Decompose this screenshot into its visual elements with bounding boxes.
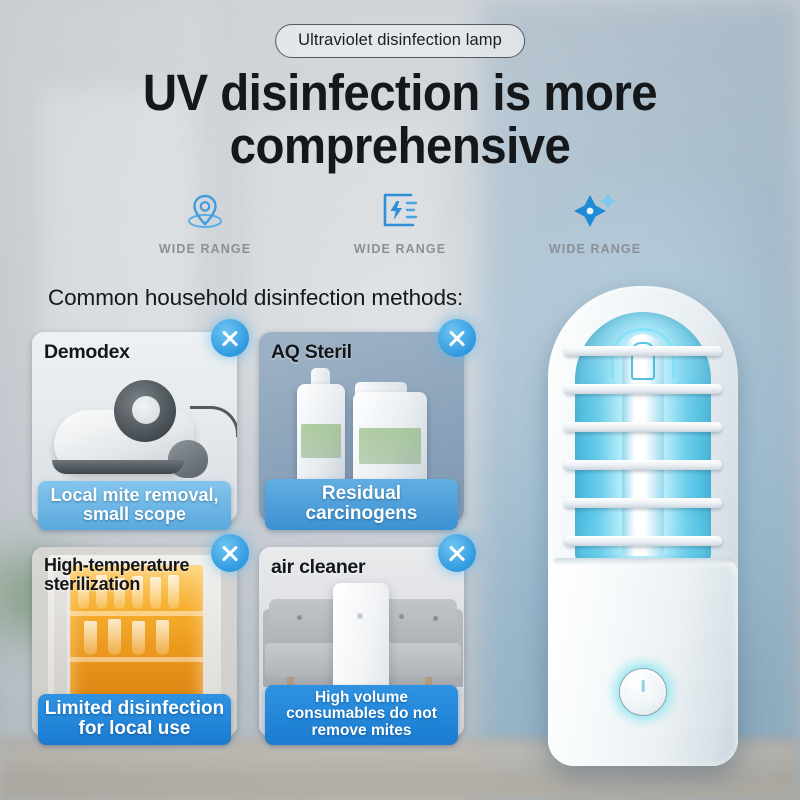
grille-bar (564, 460, 722, 470)
uv-lamp-product (548, 286, 738, 766)
card-title: High-temperature sterilization (44, 556, 237, 594)
product-infographic: Ultraviolet disinfection lamp UV disinfe… (0, 0, 800, 800)
feature-label: WIDE RANGE (549, 242, 641, 256)
section-title: Common household disinfection methods: (48, 285, 463, 311)
card-air-cleaner[interactable]: air cleaner High volume consumables do n… (259, 547, 464, 737)
card-high-temperature[interactable]: High-temperature sterilization Limited d… (32, 547, 237, 737)
lamp-seam (554, 558, 732, 565)
headline-line-1: UV disinfection is more (143, 64, 657, 121)
comparison-card-grid: Demodex Local mite removal, small scope … (32, 332, 472, 737)
page-title: UV disinfection is more comprehensive (28, 66, 772, 172)
card-caption: Limited disinfection for local use (38, 694, 231, 745)
feature-item-3: WIDE RANGE (520, 186, 670, 256)
card-title: AQ Steril (271, 341, 352, 364)
power-symbol (642, 680, 645, 692)
feature-item-2: WIDE RANGE (325, 186, 475, 256)
card-title: Demodex (44, 341, 130, 364)
card-caption: Local mite removal, small scope (38, 481, 231, 530)
card-title: air cleaner (271, 556, 365, 579)
grille-bar (564, 422, 722, 432)
card-demodex[interactable]: Demodex Local mite removal, small scope (32, 332, 237, 522)
close-icon[interactable] (211, 319, 249, 357)
top-badge: Ultraviolet disinfection lamp (275, 24, 525, 58)
grille-bar (564, 346, 722, 356)
grille-bar (564, 498, 722, 508)
grille-bar (564, 536, 722, 546)
card-caption: High volume consumables do not remove mi… (265, 685, 458, 745)
feature-row: WIDE RANGE WIDE RANGE WIDE RANGE (130, 186, 670, 256)
power-button[interactable] (619, 668, 667, 716)
card-aq-steril[interactable]: AQ Steril Residual carcinogens (259, 332, 464, 522)
feature-item-1: WIDE RANGE (130, 186, 280, 256)
card-caption: Residual carcinogens (265, 479, 458, 530)
headline-line-2: comprehensive (28, 119, 772, 172)
close-icon[interactable] (438, 319, 476, 357)
sparkle-icon (571, 186, 619, 236)
feature-label: WIDE RANGE (354, 242, 446, 256)
close-icon[interactable] (438, 534, 476, 572)
location-pin-icon (182, 186, 228, 236)
grille-bar (564, 384, 722, 394)
lightning-card-icon (377, 186, 423, 236)
close-icon[interactable] (211, 534, 249, 572)
feature-label: WIDE RANGE (159, 242, 251, 256)
